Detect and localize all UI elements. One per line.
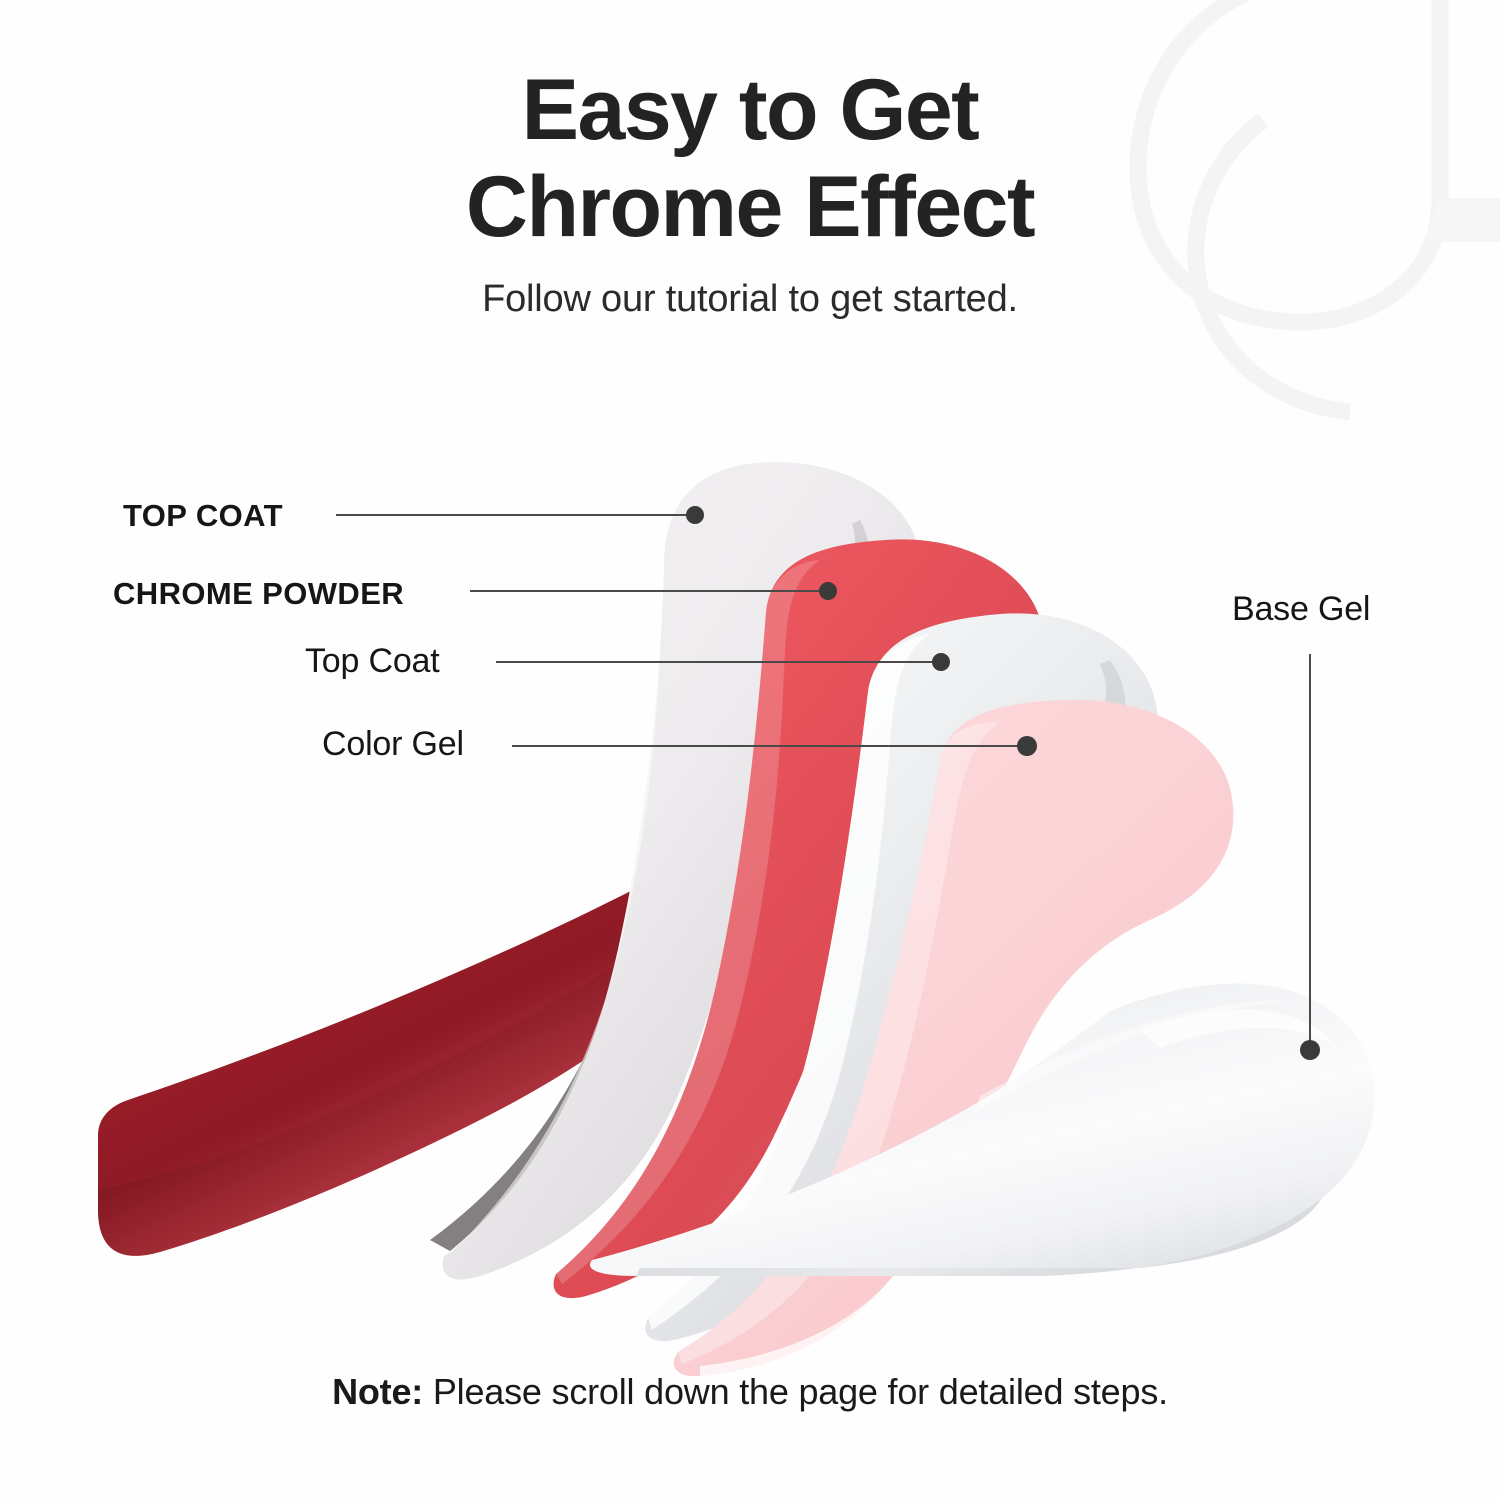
poster-canvas: Easy to Get Chrome Effect Follow our tut… xyxy=(0,0,1500,1500)
page-subtitle: Follow our tutorial to get started. xyxy=(0,278,1500,321)
callout-label-color-gel: Color Gel xyxy=(322,725,464,764)
footer-note: Note: Please scroll down the page for de… xyxy=(0,1371,1500,1413)
callout-label-chrome-powder: CHROME POWDER xyxy=(113,576,404,612)
header: Easy to Get Chrome Effect Follow our tut… xyxy=(0,62,1500,321)
callout-label-top-coat-upper: TOP COAT xyxy=(123,498,283,534)
callout-label-top-coat-lower: Top Coat xyxy=(305,642,439,681)
page-title: Easy to Get Chrome Effect xyxy=(0,62,1500,256)
footer-note-prefix: Note: xyxy=(332,1371,423,1412)
callout-label-base-gel: Base Gel xyxy=(1232,590,1370,629)
footer-note-text: Please scroll down the page for detailed… xyxy=(423,1371,1168,1412)
